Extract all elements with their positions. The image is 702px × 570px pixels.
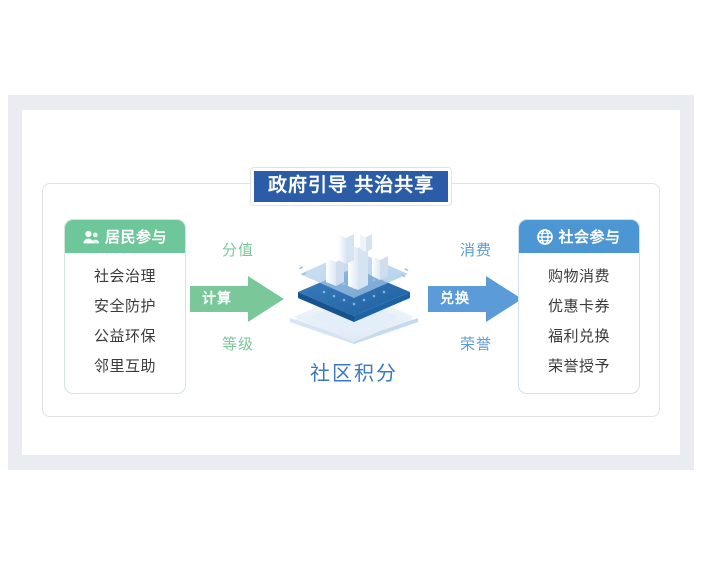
list-item[interactable]: 福利兑换 [519,322,639,352]
list-item[interactable]: 公益环保 [65,322,185,352]
list-item[interactable]: 邻里互助 [65,352,185,382]
right-arrow-bottom-label: 荣誉 [428,334,524,356]
list-item[interactable]: 安全防护 [65,292,185,322]
right-panel-header-label: 社会参与 [558,226,620,247]
right-arrow-group: 消费 兑换 荣誉 [428,240,524,356]
diagram-canvas: 政府引导 共治共享 居民参与 社会治理 安全防护 公益环保 邻里互助 分值 [0,0,702,570]
right-panel-social-participation: 社会参与 购物消费 优惠卡券 福利兑换 荣誉授予 [518,219,640,394]
centre-caption: 社区积分 [286,357,422,386]
list-item[interactable]: 购物消费 [519,262,639,292]
left-arrow-top-label: 分值 [190,240,286,262]
centre-community-points: 社区积分 [286,218,422,386]
list-item[interactable]: 荣誉授予 [519,352,639,382]
left-arrow-shape: 计算 [190,274,286,324]
list-item[interactable]: 优惠卡券 [519,292,639,322]
left-panel-resident-participation: 居民参与 社会治理 安全防护 公益环保 邻里互助 [64,219,186,394]
left-panel-header: 居民参与 [65,220,185,253]
title-banner: 政府引导 共治共享 [251,168,451,205]
list-item[interactable]: 社会治理 [65,262,185,292]
users-icon [83,230,100,244]
left-panel-list: 社会治理 安全防护 公益环保 邻里互助 [65,253,185,393]
left-arrow-bottom-label: 等级 [190,334,286,356]
left-arrow-body-label: 计算 [194,288,240,308]
isometric-city-platform-icon [286,333,422,350]
right-panel-header: 社会参与 [519,220,639,253]
right-arrow-top-label: 消费 [428,240,524,262]
left-panel-header-label: 居民参与 [105,226,167,247]
right-arrow-shape: 兑换 [428,274,524,324]
right-arrow-body-label: 兑换 [432,288,478,308]
left-arrow-group: 分值 计算 等级 [190,240,286,356]
globe-icon [537,229,553,245]
right-panel-list: 购物消费 优惠卡券 福利兑换 荣誉授予 [519,253,639,393]
